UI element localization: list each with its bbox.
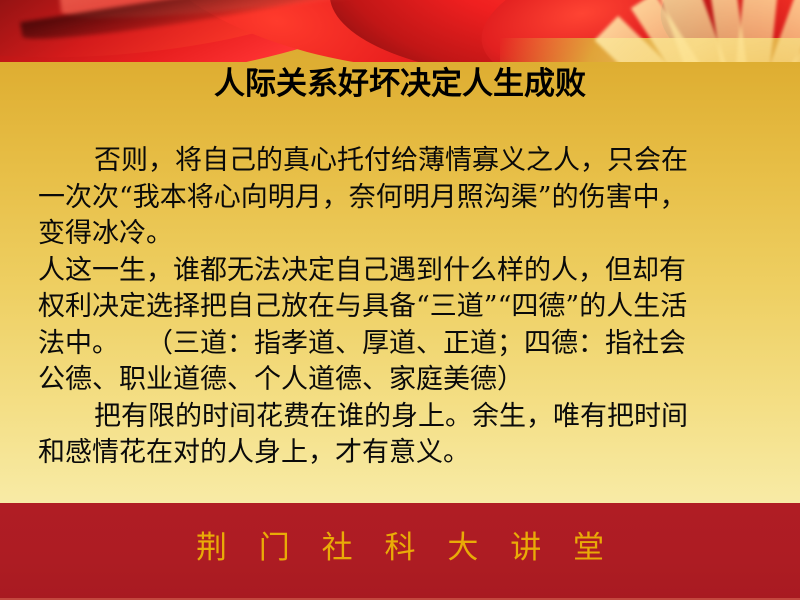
- gold-light-rays-icon: [500, 0, 800, 62]
- body-line: 人这一生，谁都无法决定自己遇到什么样的人，但却有: [38, 253, 764, 290]
- body-line: 一次次“我本将心向明月，奈何明月照沟渠”的伤害中，: [38, 180, 764, 217]
- body-line: 否则，将自己的真心托付给薄情寡义之人，只会在: [38, 143, 764, 180]
- presentation-slide: 人际关系好坏决定人生成败 否则，将自己的真心托付给薄情寡义之人，只会在 一次次“…: [0, 0, 800, 600]
- body-line: 和感情花在对的人身上，才有意义。: [38, 435, 764, 472]
- slide-body-text: 否则，将自己的真心托付给薄情寡义之人，只会在 一次次“我本将心向明月，奈何明月照…: [38, 143, 764, 472]
- body-line: 权利决定选择把自己放在与具备“三道”“四德”的人生活: [38, 289, 764, 326]
- footer-band: 荆 门 社 科 大 讲 堂: [0, 503, 800, 600]
- body-line: 变得冰冷。: [38, 216, 764, 253]
- body-line: 法中。 （三道：指孝道、厚道、正道；四德：指社会: [38, 326, 764, 363]
- footer-organization-name: 荆 门 社 科 大 讲 堂: [0, 527, 800, 569]
- body-line: 把有限的时间花费在谁的身上。余生，唯有把时间: [38, 399, 764, 436]
- body-line: 公德、职业道德、个人道德、家庭美德）: [38, 362, 764, 399]
- slide-title: 人际关系好坏决定人生成败: [0, 66, 800, 102]
- header-ribbon-band: [0, 0, 800, 62]
